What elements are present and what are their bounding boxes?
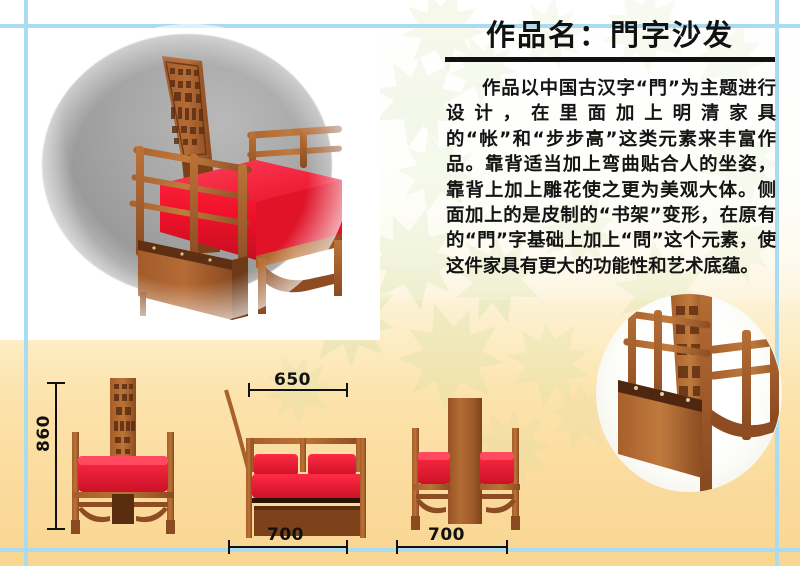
dimension-860-tick-bottom <box>47 528 65 530</box>
page-title: 作品名：門字沙发 <box>445 14 775 56</box>
dimension-700-back-tick-right <box>506 540 508 554</box>
dimension-650-tick-right <box>346 383 348 397</box>
dimension-860-tick-top <box>47 382 65 384</box>
title-block: 作品名：門字沙发 <box>445 14 775 66</box>
technical-view-back <box>390 398 550 548</box>
dimension-700-side-tick-right <box>346 540 348 554</box>
front-elevation-drawing <box>38 374 208 544</box>
dimension-700-side-line <box>228 546 348 548</box>
poster-canvas: 作品名：門字沙发 作品以中国古汉字“門”为主题进行设计，在里面加上明清家具的“帐… <box>0 0 800 566</box>
dimension-700-side-tick-left <box>228 540 230 554</box>
back-elevation-drawing <box>390 398 550 548</box>
dimension-860-line <box>55 382 57 530</box>
dimension-650-tick-left <box>248 383 250 397</box>
frame-line-left <box>24 0 28 566</box>
dimension-700-back-tick-left <box>396 540 398 554</box>
detail-frame-render <box>592 292 792 502</box>
dimension-label-700-back: 700 <box>428 525 465 545</box>
technical-view-front <box>38 374 208 544</box>
dimension-label-650: 650 <box>274 370 311 390</box>
description-text: 作品以中国古汉字“門”为主题进行设计，在里面加上明清家具的“帐”和“步步高”这类… <box>446 76 776 279</box>
frame-line-bottom <box>0 548 800 552</box>
hero-photo-vignette <box>30 24 350 324</box>
detail-product-photo <box>592 292 792 502</box>
dimension-label-700-side: 700 <box>267 525 304 545</box>
title-underline <box>445 57 775 62</box>
hero-product-photo <box>42 34 342 312</box>
dimension-label-860: 860 <box>34 415 54 452</box>
dimension-700-back-line <box>396 546 508 548</box>
